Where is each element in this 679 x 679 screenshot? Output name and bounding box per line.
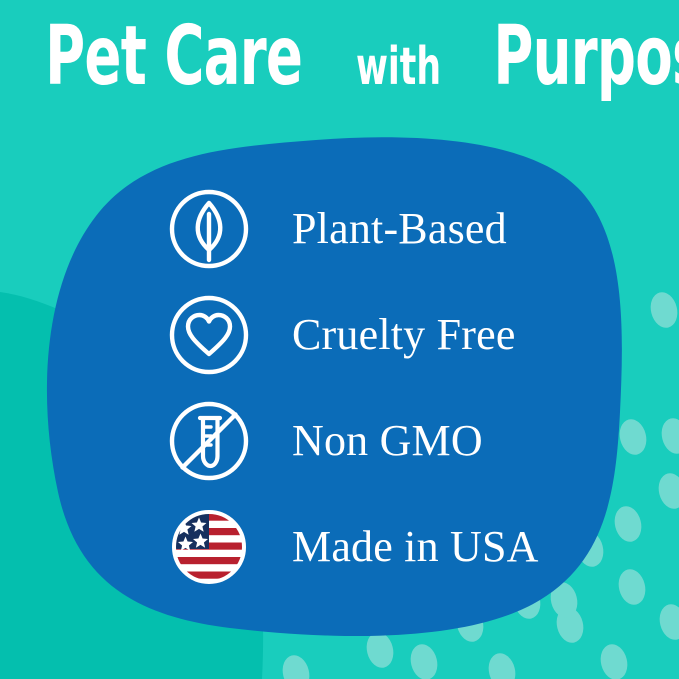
claim-row-cruelty-free: Cruelty Free bbox=[168, 282, 539, 388]
heart-icon bbox=[168, 294, 250, 376]
claim-label-made-in-usa: Made in USA bbox=[292, 525, 539, 569]
headline-part-1: Pet Care bbox=[45, 16, 302, 98]
claim-row-non-gmo: Non GMO bbox=[168, 388, 539, 494]
claim-label-plant-based: Plant-Based bbox=[292, 207, 507, 251]
claim-row-made-in-usa: Made in USA bbox=[168, 494, 539, 600]
claim-row-plant-based: Plant-Based bbox=[168, 176, 539, 282]
claim-label-cruelty-free: Cruelty Free bbox=[292, 313, 516, 357]
headline-part-3: Purpose bbox=[494, 16, 679, 98]
leaf-icon bbox=[168, 188, 250, 270]
headline-part-2: with bbox=[356, 41, 441, 93]
claim-label-non-gmo: Non GMO bbox=[292, 419, 483, 463]
promo-graphic: Pet CarewithPurpose® Plant-Based bbox=[0, 0, 679, 679]
no-gmo-icon bbox=[168, 400, 250, 482]
page-title: Pet CarewithPurpose® bbox=[0, 16, 679, 98]
claims-list: Plant-Based Cruelty Free bbox=[168, 176, 539, 600]
usa-flag-icon bbox=[168, 506, 250, 588]
